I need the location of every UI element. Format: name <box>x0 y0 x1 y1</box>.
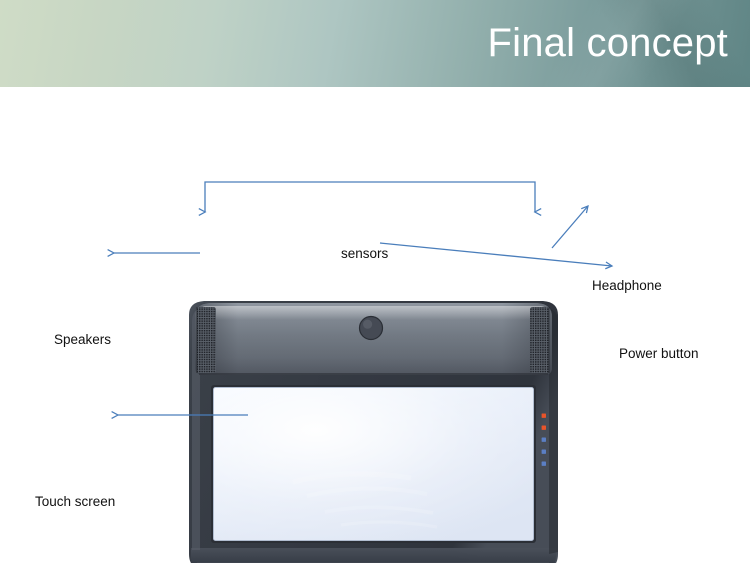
device-illustration <box>175 282 575 563</box>
screen-glow <box>214 388 534 541</box>
top-bar-seam <box>199 373 548 375</box>
callout-label-speakers: Speakers <box>54 332 111 348</box>
callout-label-headphone: Headphone <box>592 278 662 294</box>
slide-canvas: Final concept <box>0 0 750 563</box>
device-bottom-lip <box>191 548 556 563</box>
speaker-grille-left <box>197 307 216 373</box>
power-button-icon[interactable] <box>360 317 383 340</box>
slide-header-banner: Final concept <box>0 0 750 87</box>
callout-label-touch-screen: Touch screen <box>35 494 115 510</box>
speaker-grille-right <box>530 307 549 373</box>
callout-label-sensors: sensors <box>341 246 388 262</box>
callout-label-power-button: Power button <box>619 346 699 362</box>
page-title: Final concept <box>487 18 728 68</box>
slide-body: sensors Headphone Power button Speakers … <box>0 87 750 563</box>
